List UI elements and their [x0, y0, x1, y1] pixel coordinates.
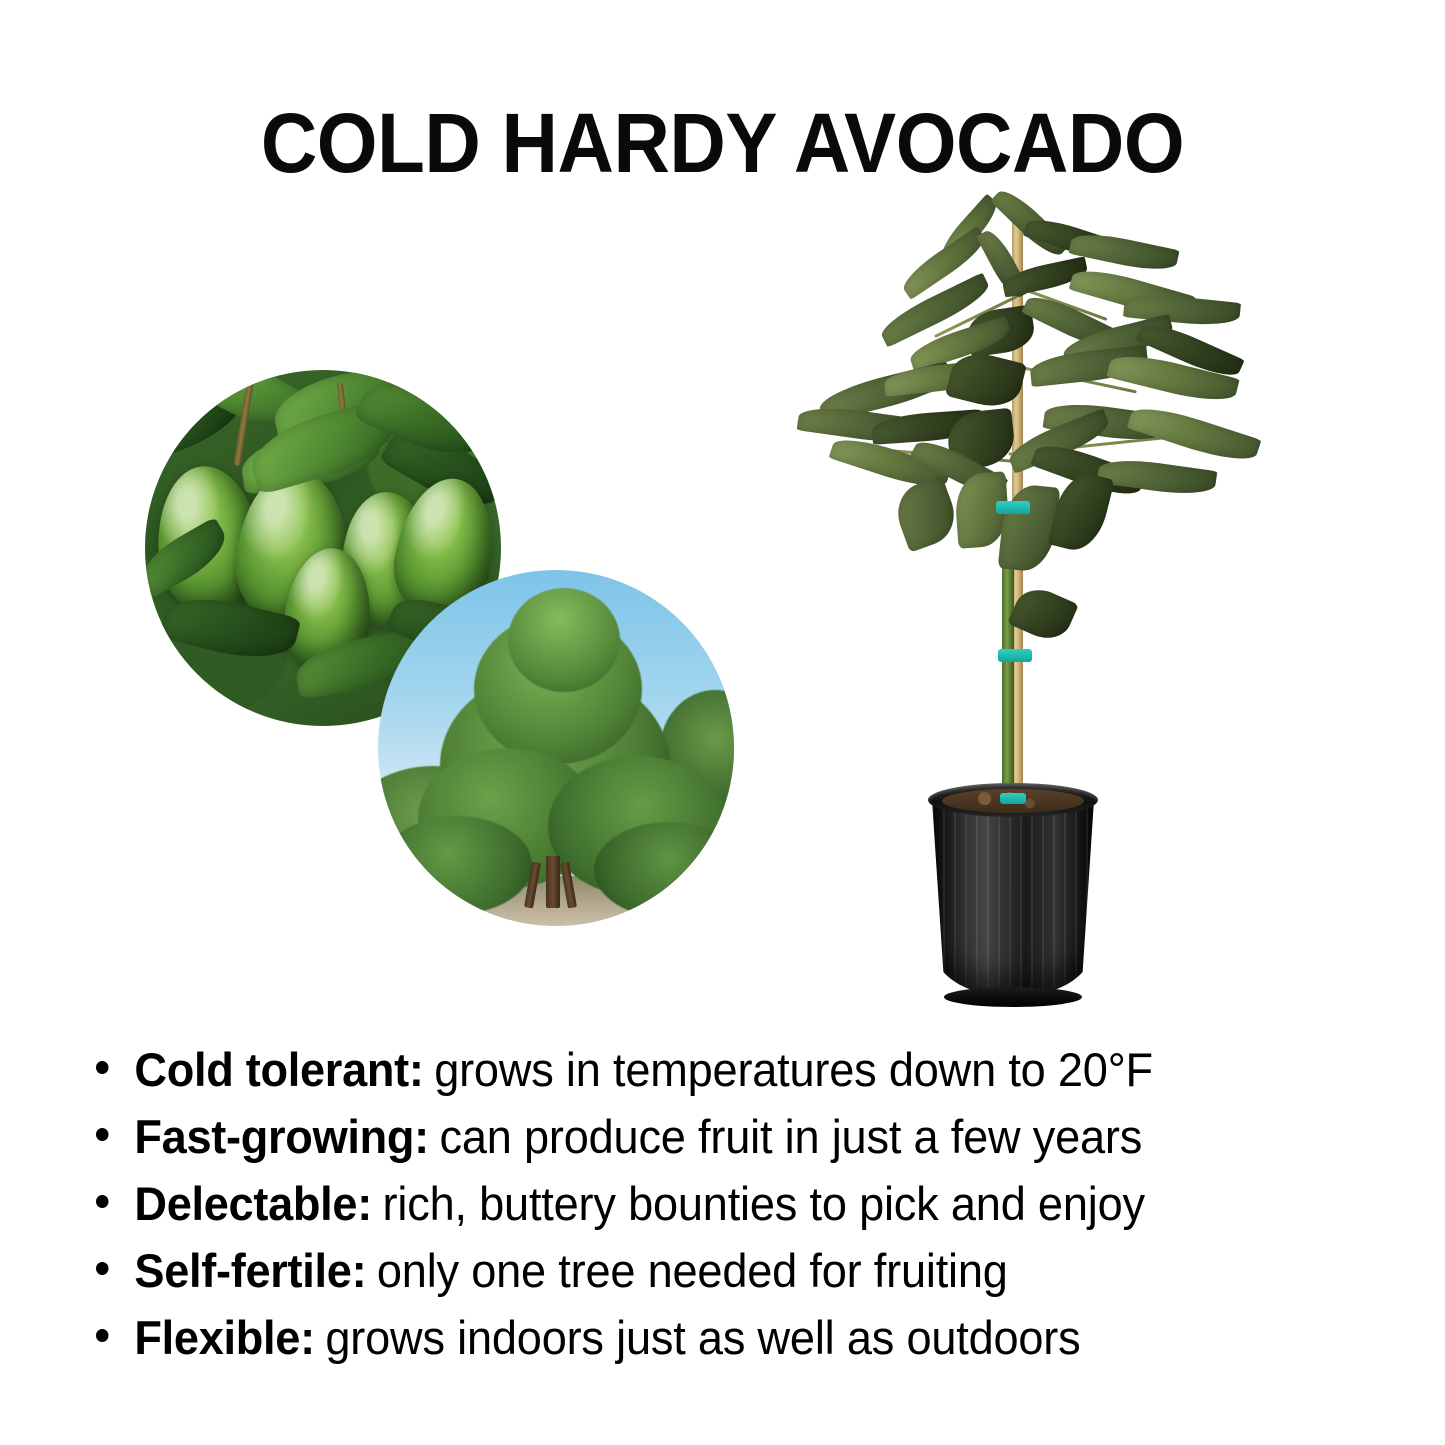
- feature-item: Flexible: grows indoors just as well as …: [96, 1304, 1334, 1371]
- tree-canopy: [594, 822, 734, 918]
- feature-label: Delectable:: [134, 1170, 372, 1237]
- tree-trunk: [546, 856, 560, 908]
- feature-text: grows in temperatures down to 20°F: [434, 1036, 1153, 1103]
- feature-label: Cold tolerant:: [134, 1036, 423, 1103]
- bullet-icon: [96, 1195, 108, 1208]
- bullet-icon: [96, 1061, 108, 1074]
- feature-label: Self-fertile:: [134, 1237, 366, 1304]
- feature-label: Flexible:: [134, 1304, 314, 1371]
- feature-item: Cold tolerant: grows in temperatures dow…: [96, 1036, 1334, 1103]
- plant-tie: [1000, 793, 1026, 804]
- bullet-icon: [96, 1128, 108, 1141]
- feature-text: can produce fruit in just a few years: [439, 1103, 1142, 1170]
- mature-avocado-tree-image: [378, 570, 734, 926]
- bullet-icon: [96, 1329, 108, 1342]
- bullet-icon: [96, 1262, 108, 1275]
- tree-canopy: [382, 816, 532, 914]
- pot-body: [932, 800, 1094, 996]
- pot-base: [944, 987, 1082, 1007]
- feature-list: Cold tolerant: grows in temperatures dow…: [96, 1036, 1386, 1371]
- potted-avocado-tree-photo: [780, 205, 1270, 1015]
- leaf: [1047, 468, 1114, 556]
- feature-text: grows indoors just as well as outdoors: [325, 1304, 1080, 1371]
- tree-canopy: [508, 588, 620, 692]
- feature-item: Delectable: rich, buttery bounties to pi…: [96, 1170, 1334, 1237]
- page-title: COLD HARDY AVOCADO: [51, 98, 1395, 188]
- leaf: [889, 475, 963, 552]
- feature-label: Fast-growing:: [134, 1103, 429, 1170]
- mature-avocado-tree-photo: [378, 570, 734, 926]
- feature-item: Self-fertile: only one tree needed for f…: [96, 1237, 1334, 1304]
- nursery-pot: [928, 783, 1098, 1001]
- feature-text: rich, buttery bounties to pick and enjoy: [383, 1170, 1145, 1237]
- plant-tie: [998, 649, 1032, 662]
- leaf: [1127, 399, 1262, 468]
- plant-tie: [996, 501, 1030, 514]
- feature-text: only one tree needed for fruiting: [377, 1237, 1008, 1304]
- feature-item: Fast-growing: can produce fruit in just …: [96, 1103, 1334, 1170]
